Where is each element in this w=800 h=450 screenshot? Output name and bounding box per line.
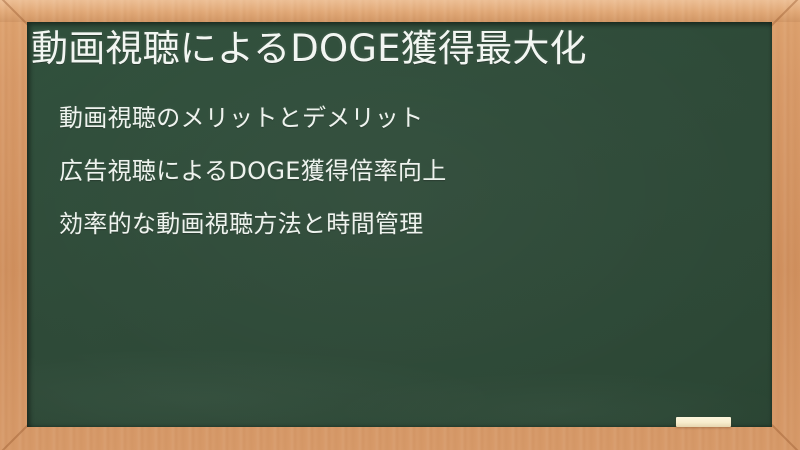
bullet-item-2: 広告視聴によるDOGE獲得倍率向上 — [59, 159, 749, 183]
frame-miter-bottom-right — [771, 424, 800, 450]
frame-miter-bottom-left — [0, 424, 29, 450]
bullet-item-1: 動画視聴のメリットとデメリット — [59, 106, 749, 130]
bullet-item-3: 効率的な動画視聴方法と時間管理 — [59, 212, 749, 236]
frame-miter-top-right — [770, 0, 800, 27]
slide-title: 動画視聴によるDOGE獲得最大化 — [31, 28, 761, 69]
chalkboard-slide: 動画視聴によるDOGE獲得最大化 動画視聴のメリットとデメリット 広告視聴による… — [0, 0, 800, 450]
chalkboard-surface: 動画視聴によるDOGE獲得最大化 動画視聴のメリットとデメリット 広告視聴による… — [27, 22, 772, 427]
frame-miter-top-left — [0, 0, 30, 27]
bullet-list: 動画視聴のメリットとデメリット 広告視聴によるDOGE獲得倍率向上 効率的な動画… — [59, 106, 749, 265]
wood-top-highlight — [0, 0, 800, 22]
board-content: 動画視聴によるDOGE獲得最大化 動画視聴のメリットとデメリット 広告視聴による… — [27, 22, 772, 427]
chalk-stick — [676, 417, 731, 427]
